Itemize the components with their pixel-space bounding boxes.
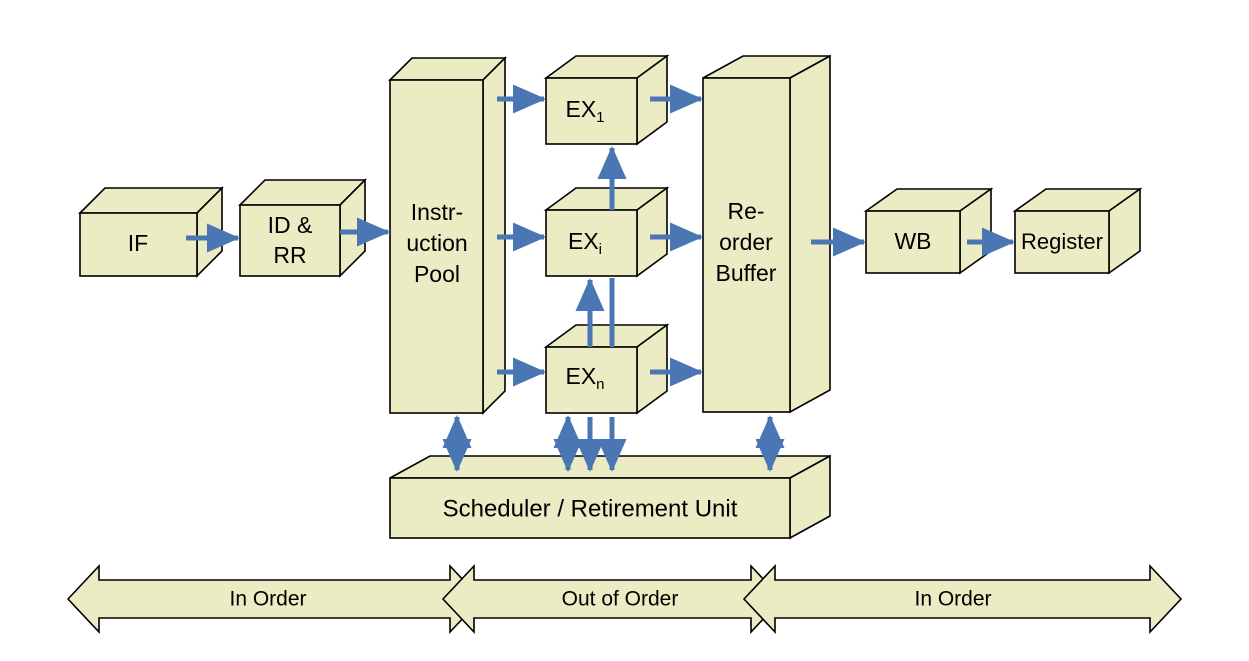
box-exn-sub: n <box>596 376 604 393</box>
box-ex1: EX1 <box>546 56 667 144</box>
box-exn-base: EX <box>565 363 596 389</box>
box-reorder-buffer-line3: Buffer <box>716 260 777 286</box>
box-register-label: Register <box>1021 229 1103 254</box>
box-reorder-buffer-line2: order <box>719 229 773 255</box>
box-instruction-pool-line3: Pool <box>414 261 460 287</box>
box-instruction-pool-line1: Instr- <box>411 199 463 225</box>
box-id-rr-label-line2: RR <box>273 242 306 268</box>
box-exi-sub: i <box>599 241 602 258</box>
box-wb: WB <box>866 189 991 273</box>
box-exi-label: EXi <box>568 228 602 258</box>
box-instruction-pool: Instr- uction Pool <box>390 58 505 413</box>
order-band-label-2: Out of Order <box>562 588 679 611</box>
box-if-label: IF <box>128 230 148 256</box>
box-wb-label: WB <box>894 228 931 254</box>
order-band-label-1: In Order <box>229 588 306 611</box>
box-exi-base: EX <box>568 228 599 254</box>
order-band: In Order Out of Order In Order <box>68 566 1181 632</box>
box-ex1-sub: 1 <box>596 109 604 126</box>
box-ex1-base: EX <box>565 96 596 122</box>
order-band-label-3: In Order <box>914 588 991 611</box>
box-exi: EXi <box>546 188 667 276</box>
box-id-rr-label-line1: ID & <box>268 212 313 238</box>
box-scheduler-label: Scheduler / Retirement Unit <box>443 495 738 522</box>
box-register: Register <box>1015 189 1140 273</box>
box-exn: EXn <box>546 325 667 413</box>
box-id-rr: ID & RR <box>240 180 365 276</box>
box-if: IF <box>80 188 222 276</box>
box-instruction-pool-line2: uction <box>406 230 467 256</box>
pipeline-diagram-svg: IF ID & RR Instr- uction Pool EX1 EXi EX… <box>0 0 1249 661</box>
box-reorder-buffer-line1: Re- <box>727 198 764 224</box>
diagram-canvas: IF ID & RR Instr- uction Pool EX1 EXi EX… <box>0 0 1249 661</box>
box-reorder-buffer: Re- order Buffer <box>703 56 830 412</box>
